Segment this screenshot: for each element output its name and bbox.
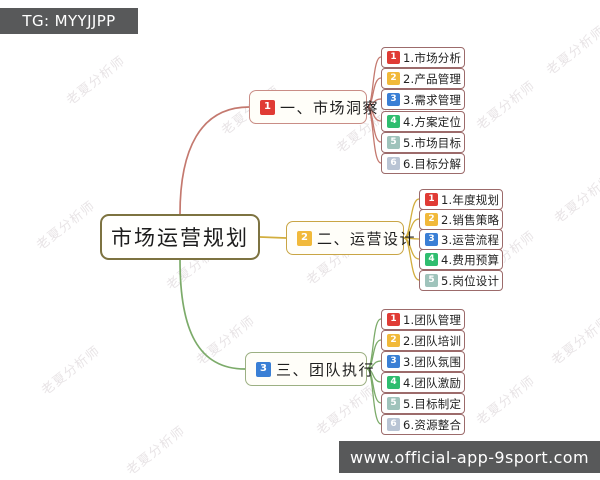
leaf-badge-icon: 6 [387, 157, 400, 170]
leaf-node-label: 5.岗位设计 [441, 273, 499, 289]
leaf-node[interactable]: 3 3.团队氛围 [381, 351, 465, 372]
leaf-node-label: 5.目标制定 [403, 396, 461, 412]
leaf-node[interactable]: 1 1.市场分析 [381, 47, 465, 68]
leaf-node-label: 4.费用预算 [441, 252, 499, 268]
root-node[interactable]: 市场运营规划 [100, 214, 260, 260]
leaf-node[interactable]: 3 3.需求管理 [381, 89, 465, 110]
leaf-node-label: 3.需求管理 [403, 92, 461, 108]
leaf-badge-icon: 1 [387, 51, 400, 64]
leaf-badge-icon: 4 [387, 115, 400, 128]
watermark-text: 老夏分析师 [122, 420, 189, 478]
leaf-badge-icon: 1 [425, 193, 438, 206]
leaf-node-label: 1.团队管理 [403, 312, 461, 328]
watermark-text: 老夏分析师 [37, 340, 104, 398]
leaf-node[interactable]: 1 1.团队管理 [381, 309, 465, 330]
leaf-node[interactable]: 2 2.团队培训 [381, 330, 465, 351]
leaf-node-label: 4.团队激励 [403, 375, 461, 391]
branch-node-label: 二、运营设计 [317, 228, 416, 249]
watermark-text: 老夏分析师 [472, 75, 539, 133]
leaf-badge-icon: 2 [425, 213, 438, 226]
leaf-node-label: 2.团队培训 [403, 333, 461, 349]
leaf-badge-icon: 3 [387, 93, 400, 106]
watermark-text: 老夏分析师 [62, 50, 129, 108]
watermark-text: 老夏分析师 [550, 168, 600, 226]
leaf-node[interactable]: 3 3.运营流程 [419, 229, 503, 250]
watermark-text: 老夏分析师 [32, 195, 99, 253]
leaf-node[interactable]: 2 2.销售策略 [419, 209, 503, 230]
leaf-node[interactable]: 5 5.岗位设计 [419, 270, 503, 291]
edge-root-branch-1 [180, 107, 249, 214]
leaf-node[interactable]: 6 6.目标分解 [381, 153, 465, 174]
branch-badge-icon: 3 [256, 362, 271, 377]
telegram-handle-tag: TG: MYYJJPP [0, 8, 138, 34]
leaf-node[interactable]: 2 2.产品管理 [381, 68, 465, 89]
leaf-node-label: 2.销售策略 [441, 212, 499, 228]
leaf-badge-icon: 5 [387, 397, 400, 410]
leaf-node[interactable]: 4 4.方案定位 [381, 111, 465, 132]
watermark-text: 老夏分析师 [547, 310, 600, 368]
leaf-badge-icon: 3 [387, 355, 400, 368]
leaf-badge-icon: 4 [425, 253, 438, 266]
leaf-badge-icon: 2 [387, 72, 400, 85]
website-watermark-tag: www.official-app-9sport.com [339, 441, 600, 473]
branch-node-operations-design[interactable]: 2 二、运营设计 [286, 221, 404, 255]
mindmap-canvas: 老夏分析师 老夏分析师 老夏分析师 老夏分析师 老夏分析师 老夏分析师 老夏分析… [0, 0, 600, 480]
leaf-node-label: 3.团队氛围 [403, 354, 461, 370]
edge-root-branch-2 [260, 237, 286, 238]
branch-node-label: 一、市场洞察 [280, 97, 379, 118]
leaf-node-label: 6.目标分解 [403, 156, 461, 172]
leaf-node[interactable]: 4 4.团队激励 [381, 372, 465, 393]
leaf-badge-icon: 1 [387, 313, 400, 326]
watermark-text: 老夏分析师 [472, 370, 539, 428]
leaf-node-label: 1.市场分析 [403, 50, 461, 66]
leaf-badge-icon: 3 [425, 233, 438, 246]
leaf-node-label: 1.年度规划 [441, 192, 499, 208]
leaf-badge-icon: 2 [387, 334, 400, 347]
branch-badge-icon: 1 [260, 100, 275, 115]
leaf-badge-icon: 5 [425, 274, 438, 287]
leaf-node-label: 6.资源整合 [403, 417, 461, 433]
leaf-badge-icon: 6 [387, 418, 400, 431]
leaf-node-label: 2.产品管理 [403, 71, 461, 87]
leaf-badge-icon: 4 [387, 376, 400, 389]
branch-node-label: 三、团队执行 [276, 359, 375, 380]
leaf-badge-icon: 5 [387, 136, 400, 149]
leaf-node-label: 3.运营流程 [441, 232, 499, 248]
branch-node-market-insight[interactable]: 1 一、市场洞察 [249, 90, 367, 124]
watermark-text: 老夏分析师 [542, 20, 600, 78]
leaf-node[interactable]: 6 6.资源整合 [381, 414, 465, 435]
leaf-node[interactable]: 5 5.市场目标 [381, 132, 465, 153]
branch-node-team-execution[interactable]: 3 三、团队执行 [245, 352, 367, 386]
leaf-node[interactable]: 4 4.费用预算 [419, 249, 503, 270]
edge-root-branch-3 [180, 260, 245, 369]
leaf-node-label: 5.市场目标 [403, 135, 461, 151]
leaf-node[interactable]: 5 5.目标制定 [381, 393, 465, 414]
leaf-node[interactable]: 1 1.年度规划 [419, 189, 503, 210]
watermark-text: 老夏分析师 [312, 380, 379, 438]
leaf-node-label: 4.方案定位 [403, 114, 461, 130]
branch-badge-icon: 2 [297, 231, 312, 246]
root-node-label: 市场运营规划 [111, 222, 249, 252]
